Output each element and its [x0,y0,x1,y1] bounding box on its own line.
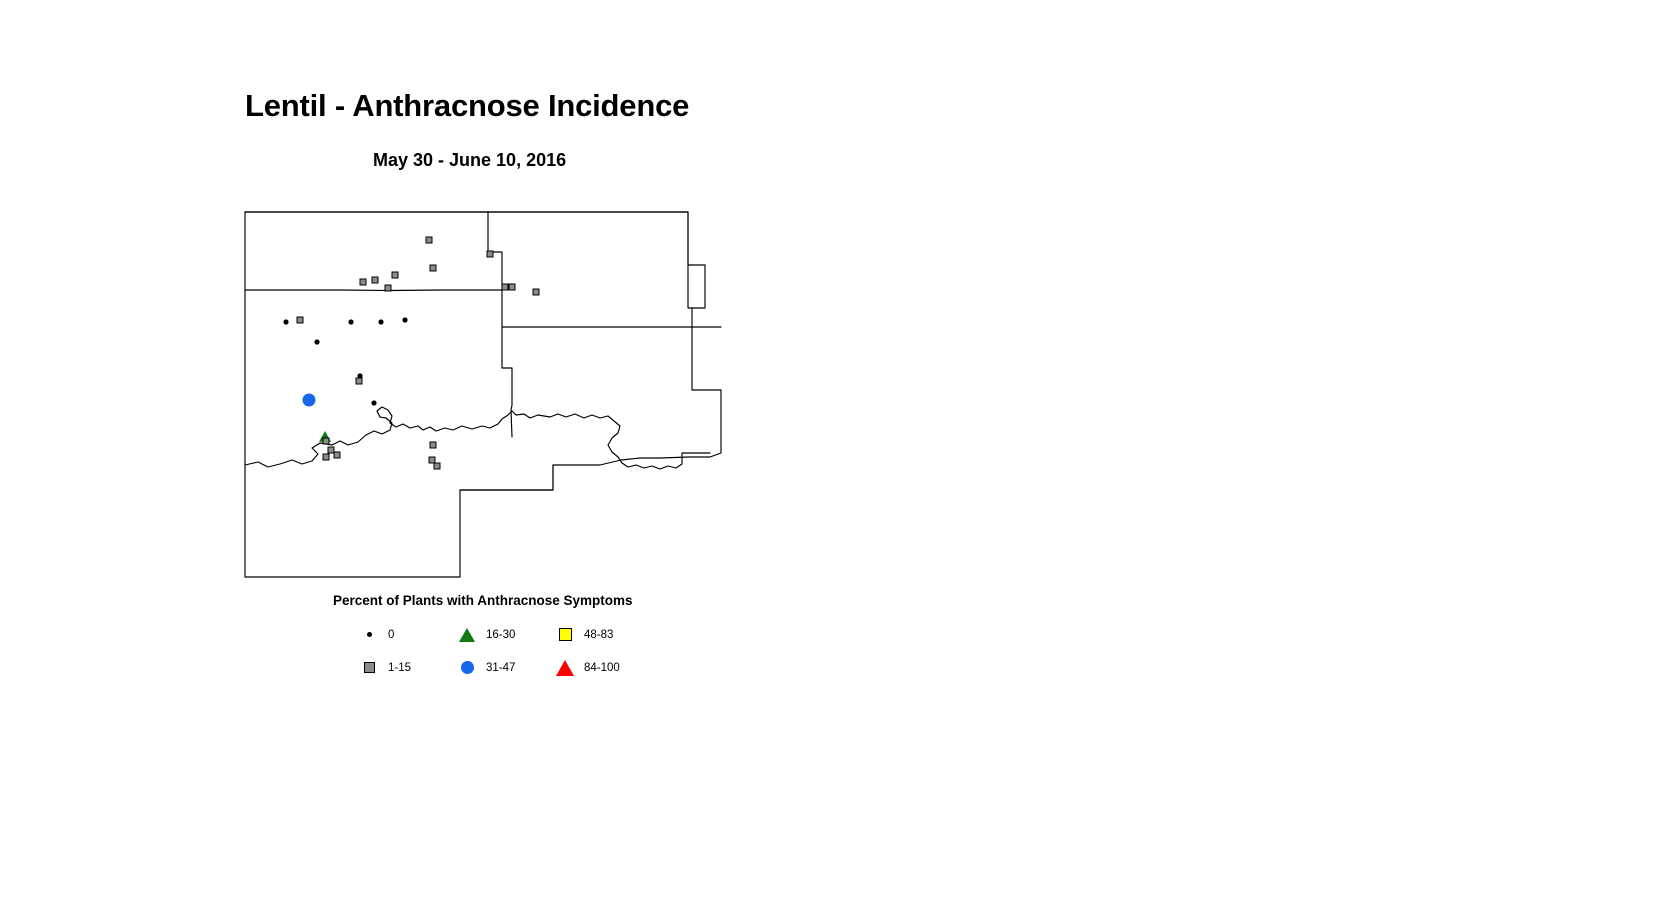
map-point-square [323,438,329,444]
map-point-square [323,454,329,460]
map-canvas [240,205,740,590]
triangle-green-icon [456,626,478,644]
map-point-circle [303,394,316,407]
map-point-square [328,447,334,453]
map-point-square [434,463,440,469]
map-figure: Lentil - Anthracnose Incidence May 30 - … [0,0,1673,900]
map-point-square [356,378,362,384]
region-boundaries [245,212,721,577]
map-point-square [426,237,432,243]
map-point-square [502,284,508,290]
square-gray-icon [358,659,380,677]
legend-item-label: 16-30 [478,629,515,641]
legend-item-16-30[interactable]: 16-30 [456,626,554,644]
map-point-square [360,279,366,285]
legend-item-48-83[interactable]: 48-83 [554,626,652,644]
legend-item-label: 0 [380,629,394,641]
legend-item-label: 84-100 [576,662,620,674]
circle-blue-icon [456,659,478,677]
legend-row: 1-15 31-47 84-100 [358,651,718,684]
legend-item-label: 1-15 [380,662,411,674]
legend-item-1-15[interactable]: 1-15 [358,659,456,677]
legend: Percent of Plants with Anthracnose Sympt… [330,590,730,685]
map-point-square [372,277,378,283]
legend-title: Percent of Plants with Anthracnose Sympt… [333,593,633,608]
legend-item-84-100[interactable]: 84-100 [554,659,652,677]
page-subtitle: May 30 - June 10, 2016 [373,150,566,171]
map-point-dot [378,319,383,324]
legend-item-label: 31-47 [478,662,515,674]
legend-items: 0 16-30 48-83 1-15 31-47 [358,618,718,684]
dot-black-icon [358,626,380,644]
page-title: Lentil - Anthracnose Incidence [245,88,689,124]
map-point-square [430,442,436,448]
map-point-dot [348,319,353,324]
map-points [283,237,539,469]
map-point-square [392,272,398,278]
square-yellow-icon [554,626,576,644]
legend-item-31-47[interactable]: 31-47 [456,659,554,677]
map-point-square [429,457,435,463]
triangle-red-icon [554,659,576,677]
map-point-dot [283,319,288,324]
map-point-square [385,285,391,291]
legend-row: 0 16-30 48-83 [358,618,718,651]
map-point-square [430,265,436,271]
map-point-square [487,251,493,257]
legend-item-0[interactable]: 0 [358,626,456,644]
map-point-square [334,452,340,458]
map-point-square [297,317,303,323]
legend-item-label: 48-83 [576,629,613,641]
map-point-square [533,289,539,295]
map-point-dot [402,317,407,322]
map-point-dot [314,339,319,344]
map-point-square [509,284,515,290]
map-point-dot [371,400,376,405]
